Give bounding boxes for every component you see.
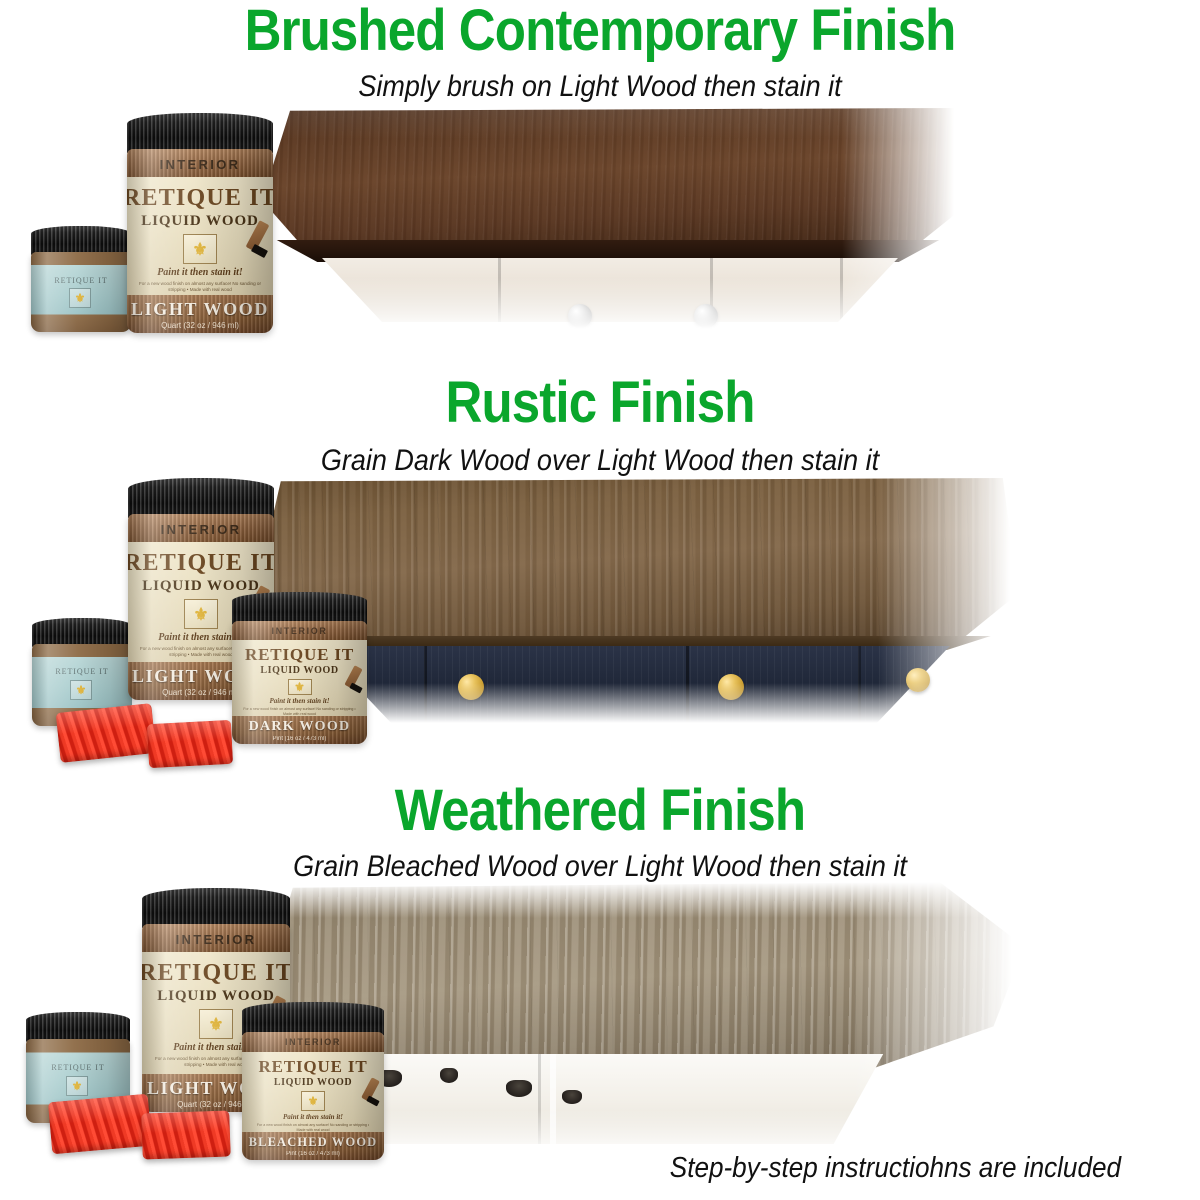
label-variant: DARK WOOD	[249, 719, 351, 735]
fleur-de-lis-icon: ⚜	[76, 684, 87, 696]
label-brand: RETIQUE IT	[142, 960, 290, 987]
jar-body: INTERIOR RETIQUE IT LIQUID WOOD ⚜ Paint …	[127, 149, 273, 333]
label-interior: INTERIOR	[242, 1037, 384, 1047]
tool-wood-graining-rocker[interactable]	[48, 1094, 152, 1155]
paintbrush-bristles-icon	[251, 244, 268, 258]
drawer-seam	[538, 1054, 541, 1144]
drawer-pull-ornate	[562, 1090, 582, 1104]
jar-variant-band: DARK WOOD Pint (16 oz / 473 ml)	[232, 716, 367, 744]
wood-grain-texture	[258, 478, 1018, 643]
product-jar-dark-wood-pint[interactable]: INTERIOR RETIQUE IT LIQUID WOOD ⚜ Paint …	[232, 592, 367, 744]
section-subtitle: Grain Dark Wood over Light Wood then sta…	[60, 446, 1140, 476]
brand-crest: ⚜	[183, 234, 217, 264]
label-product-line: LIQUID WOOD	[141, 213, 259, 230]
jar-main-label: RETIQUE IT LIQUID WOOD ⚜ Paint it then s…	[127, 177, 273, 295]
drawer-knob-gold	[458, 674, 484, 700]
section-weathered: Weathered Finish Grain Bleached Wood ove…	[0, 770, 1200, 1200]
brand-crest: ⚜	[184, 599, 218, 629]
drawer-pull-ornate	[440, 1068, 458, 1083]
product-jar-teal-accent-jar[interactable]: RETIQUE IT ⚜	[31, 226, 131, 334]
label-variant: BLEACHED WOOD	[249, 1135, 378, 1150]
label-variant: LIGHT WOOD	[131, 299, 269, 320]
label-brand: RETIQUE IT	[127, 185, 273, 212]
section-subtitle: Grain Bleached Wood over Light Wood then…	[60, 852, 1140, 882]
brand-crest: ⚜	[301, 1091, 325, 1111]
label-brand: RETIQUE IT	[245, 645, 354, 665]
label-fine-print: For a new wood finish on almost any surf…	[253, 1123, 373, 1132]
label-size: Pint (16 oz / 473 ml)	[273, 736, 327, 742]
drawer-front-panel	[298, 646, 970, 724]
section-title: Brushed Contemporary Finish	[72, 2, 1128, 60]
jar-body: INTERIOR RETIQUE IT LIQUID WOOD ⚜ Paint …	[232, 621, 367, 744]
fleur-de-lis-icon: ⚜	[75, 292, 86, 304]
footnote-instructions: Step-by-step instructiohns are included	[59, 1152, 1121, 1185]
table-top-surface	[258, 478, 1018, 643]
drawer-pull-ornate	[506, 1080, 532, 1097]
tool-wood-graining-rocker[interactable]	[147, 720, 233, 768]
label-brand: RETIQUE IT	[128, 550, 274, 577]
section-title: Rustic Finish	[72, 374, 1128, 432]
jar-teal-body: RETIQUE IT ⚜	[31, 252, 131, 332]
label-interior: INTERIOR	[232, 626, 367, 636]
section-title: Weathered Finish	[72, 782, 1128, 840]
brand-crest: ⚜	[288, 679, 312, 695]
label-tagline: Paint it then stain it!	[158, 632, 244, 643]
furniture-dark-walnut-stained-table	[262, 108, 962, 338]
brand-crest: ⚜	[69, 288, 91, 308]
jar-variant-band: LIGHT WOOD Quart (32 oz / 946 ml)	[127, 295, 273, 333]
drawer-seam	[550, 1054, 556, 1144]
drawer-knob-gold	[718, 674, 744, 700]
tool-wood-graining-rocker[interactable]	[56, 703, 157, 763]
label-brand: RETIQUE IT	[258, 1057, 367, 1077]
fleur-de-lis-icon: ⚜	[193, 606, 208, 623]
fleur-de-lis-icon: ⚜	[72, 1080, 83, 1092]
section-rustic: Rustic Finish Grain Dark Wood over Light…	[0, 370, 1200, 770]
label-fine-print: For a new wood finish on almost any surf…	[136, 281, 264, 292]
fleur-de-lis-icon: ⚜	[208, 1016, 223, 1033]
section-brushed-contemporary: Brushed Contemporary Finish Simply brush…	[0, 0, 1200, 370]
fleur-de-lis-icon: ⚜	[294, 681, 305, 693]
label-interior: INTERIOR	[142, 932, 290, 947]
jar-body: INTERIOR RETIQUE IT LIQUID WOOD ⚜ Paint …	[242, 1032, 384, 1160]
label-interior: INTERIOR	[127, 157, 273, 172]
label-fine-print: For a new wood finish on almost any surf…	[242, 707, 358, 716]
brand-crest: ⚜	[199, 1009, 233, 1039]
paintbrush-bristles-icon	[349, 683, 362, 694]
drawer-knob-gold	[906, 668, 930, 692]
jar-main-label: RETIQUE IT LIQUID WOOD ⚜ Paint it then s…	[242, 1052, 384, 1132]
fleur-de-lis-icon: ⚜	[308, 1095, 319, 1107]
drawer-knob-silver	[568, 304, 592, 328]
drawer-front-panel	[310, 258, 910, 322]
furniture-rustic-grained-navy-chest	[258, 478, 1018, 723]
table-top-surface	[262, 108, 962, 248]
brand-crest: ⚜	[70, 680, 92, 700]
drawer-seam	[840, 258, 843, 322]
product-jar-bleached-wood-pint[interactable]: INTERIOR RETIQUE IT LIQUID WOOD ⚜ Paint …	[242, 1002, 384, 1160]
label-interior: INTERIOR	[128, 522, 274, 537]
label-size: Quart (32 oz / 946 ml)	[162, 688, 240, 697]
label-tagline: Paint it then stain it!	[270, 697, 330, 705]
brand-crest: ⚜	[66, 1076, 88, 1096]
jar-main-label: RETIQUE IT LIQUID WOOD ⚜ Paint it then s…	[232, 640, 367, 716]
drawer-seam	[498, 258, 501, 322]
drawer-knob-silver	[694, 304, 718, 328]
label-tagline: Paint it then stain it!	[283, 1113, 343, 1121]
fleur-de-lis-icon: ⚜	[192, 241, 207, 258]
label-product-line: LIQUID WOOD	[274, 1077, 352, 1088]
label-tagline: Paint it then stain it!	[157, 267, 243, 278]
product-jar-light-wood-quart[interactable]: INTERIOR RETIQUE IT LIQUID WOOD ⚜ Paint …	[127, 113, 273, 333]
label-size: Quart (32 oz / 946 ml)	[161, 321, 239, 330]
paintbrush-bristles-icon	[366, 1096, 379, 1107]
section-subtitle: Simply brush on Light Wood then stain it	[60, 72, 1140, 102]
label-product-line: LIQUID WOOD	[260, 665, 338, 676]
wood-grain-texture	[262, 108, 962, 248]
